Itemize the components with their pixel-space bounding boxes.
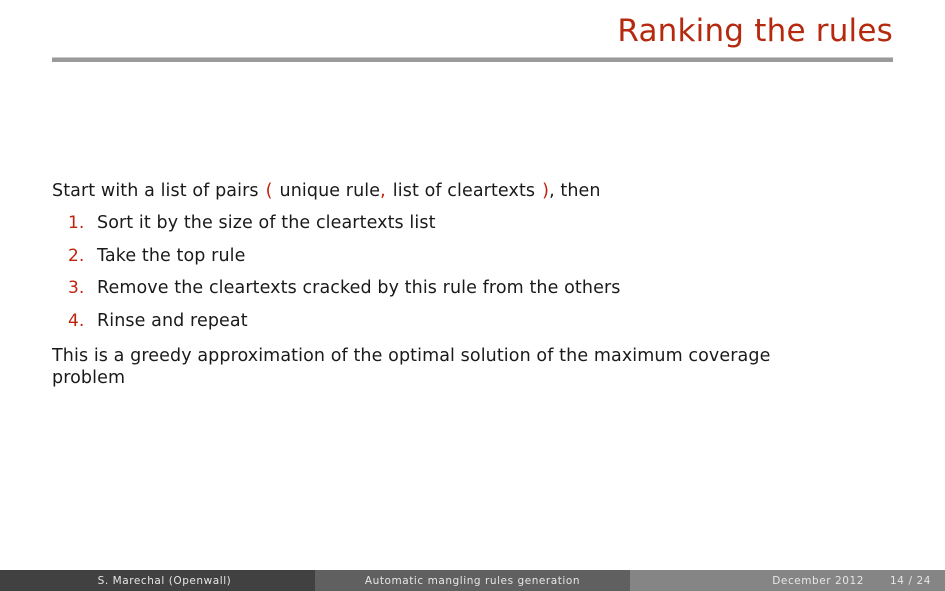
- slide-footer: S. Marechal (Openwall) Automatic manglin…: [0, 570, 945, 591]
- list-item-number: 2.: [68, 246, 90, 266]
- list-item: 1. Sort it by the size of the cleartexts…: [52, 213, 897, 233]
- page-separator: /: [908, 575, 912, 587]
- page-current: 14: [890, 575, 904, 587]
- lead-text-before: Start with a list of pairs: [52, 181, 259, 201]
- list-item: 3. Remove the cleartexts cracked by this…: [52, 278, 897, 298]
- page-total: 24: [917, 575, 931, 587]
- title-separator-rule: [52, 57, 893, 62]
- slide-body: Start with a list of pairs(unique rule,l…: [52, 180, 897, 389]
- presentation-slide: Ranking the rules Start with a list of p…: [0, 0, 945, 591]
- steps-list: 1. Sort it by the size of the cleartexts…: [52, 213, 897, 331]
- footer-author: S. Marechal (Openwall): [0, 570, 315, 591]
- footer-presentation-title: Automatic mangling rules generation: [315, 570, 630, 591]
- list-item-label: Take the top rule: [97, 246, 246, 266]
- footer-meta: December 2012 14/24: [630, 570, 945, 591]
- pair-second-element: list of cleartexts: [393, 181, 535, 201]
- conclusion-paragraph: This is a greedy approximation of the op…: [52, 345, 842, 389]
- list-item-number: 1.: [68, 213, 90, 233]
- lead-text-after: , then: [549, 181, 601, 201]
- footer-page-number: 14/24: [890, 575, 931, 587]
- list-item-label: Remove the cleartexts cracked by this ru…: [97, 278, 620, 298]
- lead-paragraph: Start with a list of pairs(unique rule,l…: [52, 180, 897, 202]
- pair-comma: ,: [380, 181, 386, 201]
- list-item-number: 3.: [68, 278, 90, 298]
- footer-date: December 2012: [772, 575, 864, 587]
- open-paren: (: [266, 181, 273, 201]
- list-item-number: 4.: [68, 311, 90, 331]
- slide-title: Ranking the rules: [52, 12, 893, 50]
- list-item: 4. Rinse and repeat: [52, 311, 897, 331]
- list-item: 2. Take the top rule: [52, 246, 897, 266]
- list-item-label: Rinse and repeat: [97, 311, 248, 331]
- list-item-label: Sort it by the size of the cleartexts li…: [97, 213, 436, 233]
- pair-first-element: unique rule: [280, 181, 381, 201]
